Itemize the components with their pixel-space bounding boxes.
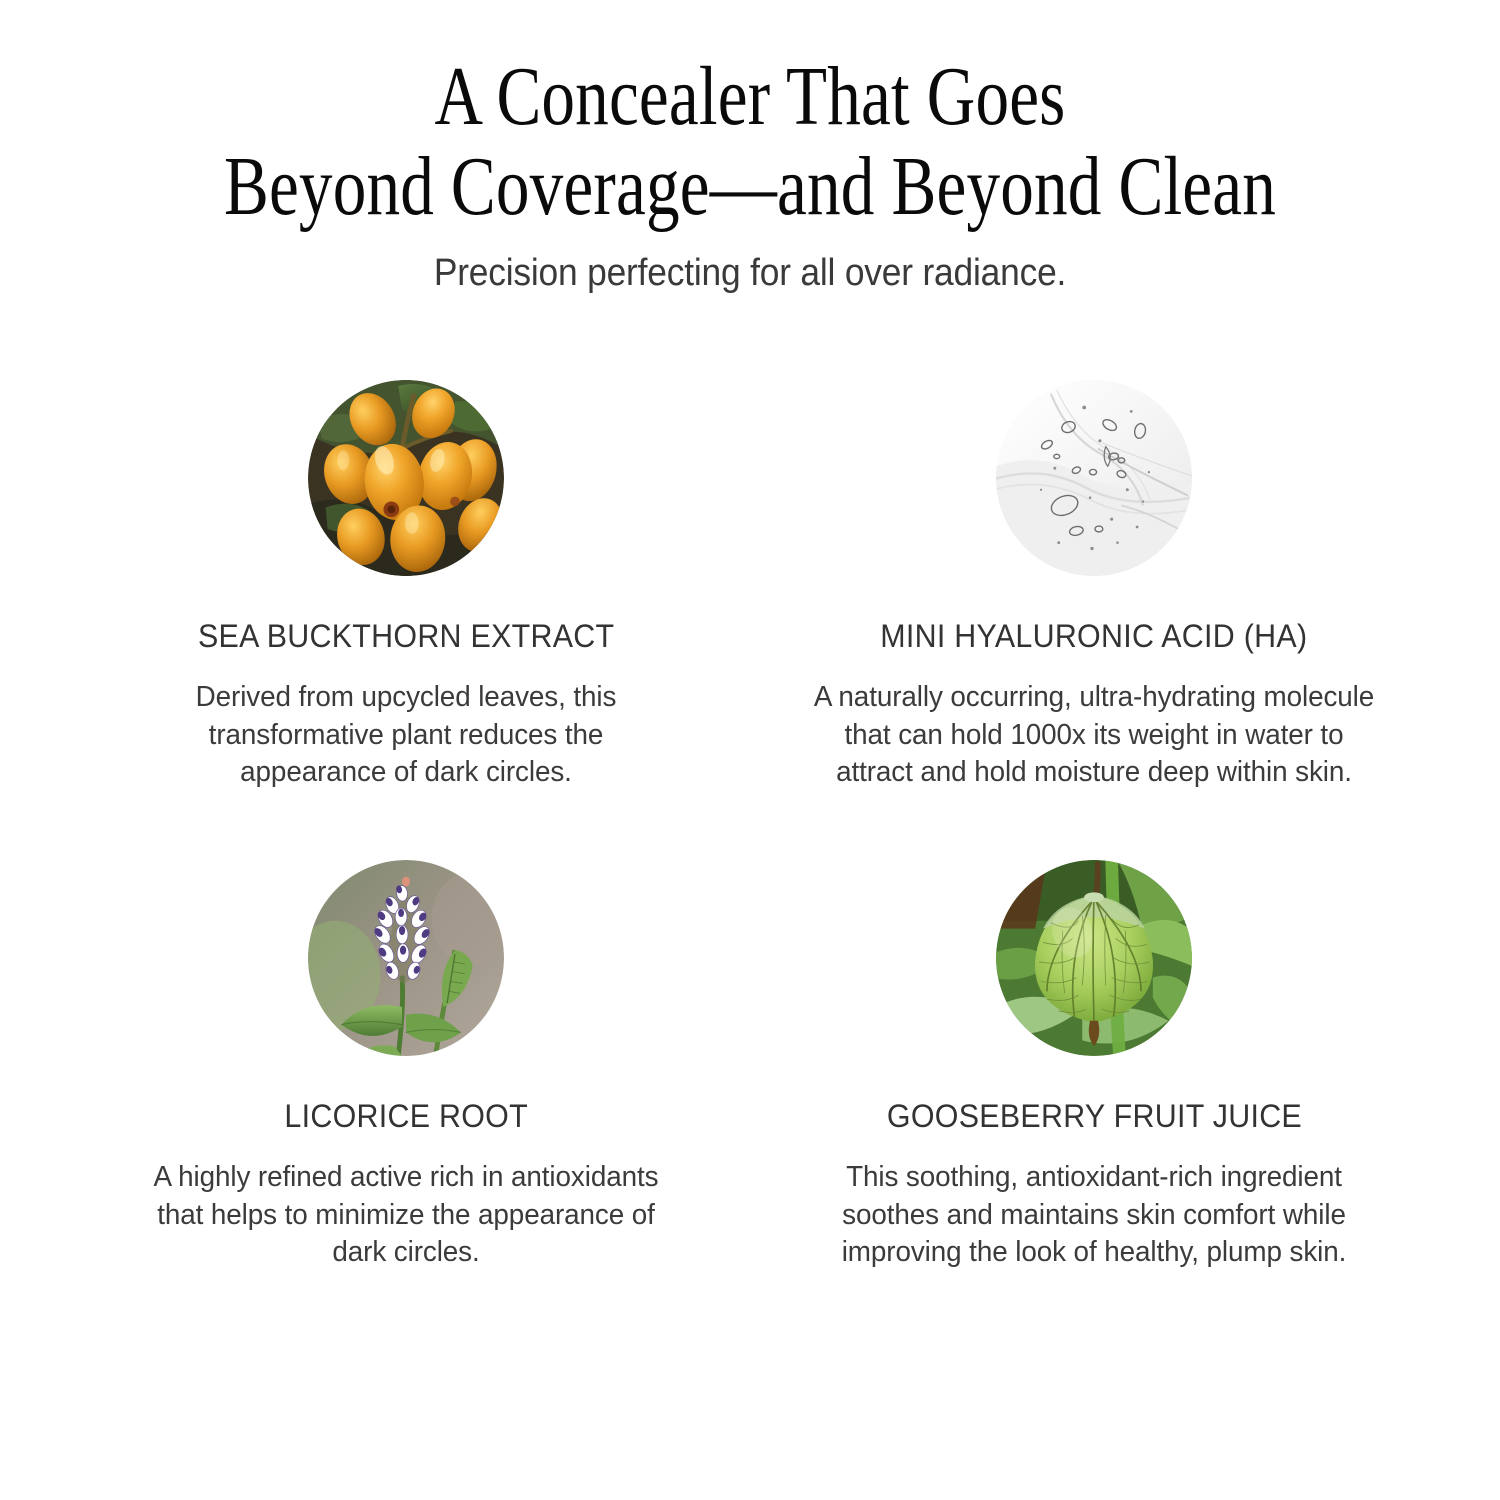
ingredient-title: GOOSEBERRY FRUIT JUICE	[886, 1056, 1301, 1135]
ingredient-card-licorice-root: LICORICE ROOT A highly refined active ri…	[62, 860, 750, 1272]
ingredient-title: LICORICE ROOT	[284, 1056, 528, 1135]
ingredient-card-gooseberry: GOOSEBERRY FRUIT JUICE This soothing, an…	[750, 860, 1438, 1272]
ingredient-card-hyaluronic-acid: MINI HYALURONIC ACID (HA) A naturally oc…	[750, 380, 1438, 792]
page-title-line-1: A Concealer That Goes	[150, 52, 1350, 142]
licorice-root-flower-photo	[308, 860, 504, 1056]
ingredient-title: MINI HYALURONIC ACID (HA)	[880, 576, 1307, 655]
sea-buckthorn-berries-photo	[308, 380, 504, 576]
hyaluronic-acid-gel-texture-photo	[996, 380, 1192, 576]
gooseberry-husk-fruit-photo	[996, 860, 1192, 1056]
ingredient-grid: SEA BUCKTHORN EXTRACT Derived from upcyc…	[62, 380, 1438, 1272]
ingredient-description: A highly refined active rich in antioxid…	[137, 1135, 675, 1272]
page-title-line-2: Beyond Coverage—and Beyond Clean	[150, 142, 1350, 232]
ingredient-description: A naturally occurring, ultra-hydrating m…	[811, 655, 1377, 792]
ingredient-benefits-page: A Concealer That Goes Beyond Coverage—an…	[0, 0, 1500, 1500]
ingredient-description: This soothing, antioxidant-rich ingredie…	[811, 1135, 1377, 1272]
page-title: A Concealer That Goes Beyond Coverage—an…	[150, 52, 1350, 232]
ingredient-description: Derived from upcycled leaves, this trans…	[137, 655, 675, 792]
page-subtitle: Precision perfecting for all over radian…	[53, 232, 1448, 295]
ingredient-title: SEA BUCKTHORN EXTRACT	[198, 576, 614, 655]
page-header: A Concealer That Goes Beyond Coverage—an…	[0, 52, 1500, 295]
ingredient-card-sea-buckthorn: SEA BUCKTHORN EXTRACT Derived from upcyc…	[62, 380, 750, 792]
